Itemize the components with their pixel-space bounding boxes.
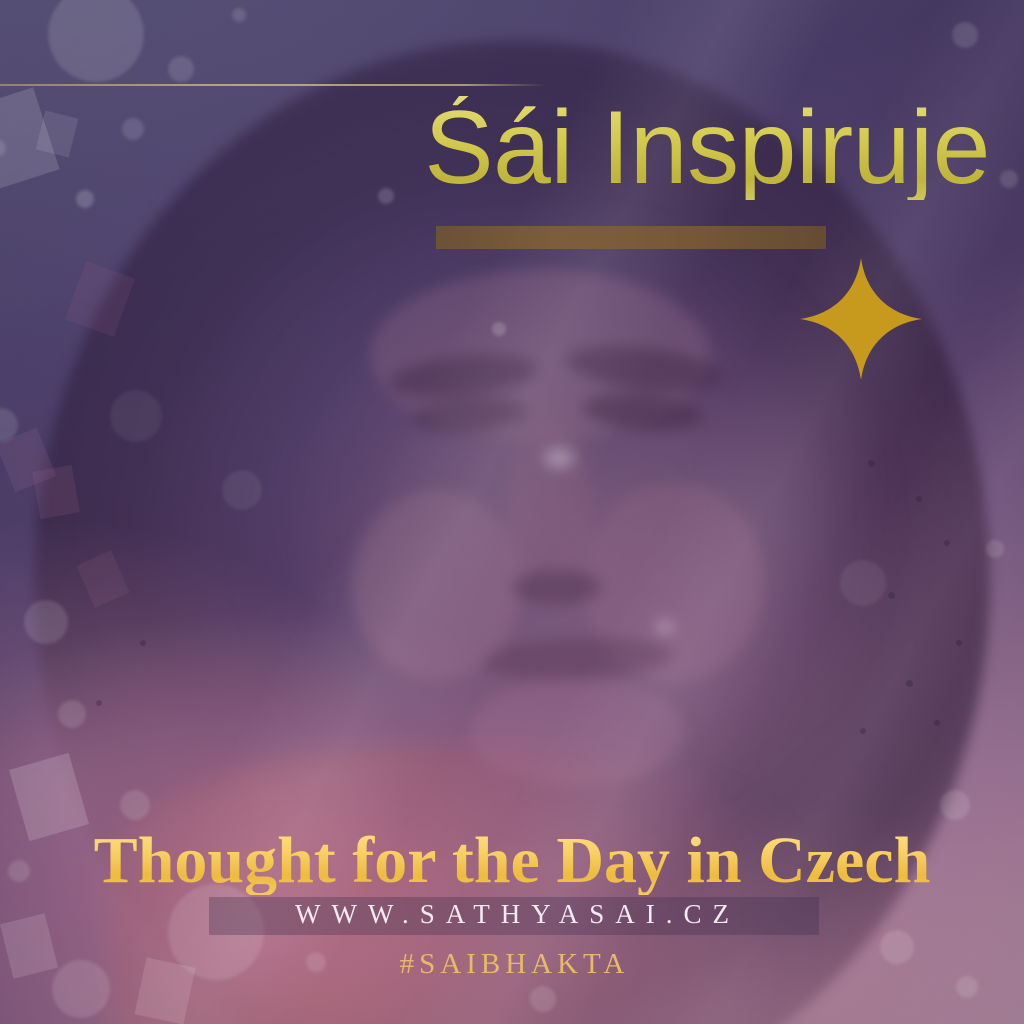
four-pointed-star-icon	[800, 258, 922, 380]
gold-hairline-divider	[0, 84, 546, 86]
website-url: WWW.SATHYASAI.CZ	[0, 899, 1024, 930]
page-title: Śái Inspiruje	[0, 96, 990, 200]
hashtag-text: #SAIBHAKTA	[0, 948, 1024, 981]
headline-text: Thought for the Day in Czech	[0, 826, 1024, 895]
social-media-poster: Śái Inspiruje Thought for the Day in Cze…	[0, 0, 1024, 1024]
title-underline-bar	[436, 226, 826, 249]
